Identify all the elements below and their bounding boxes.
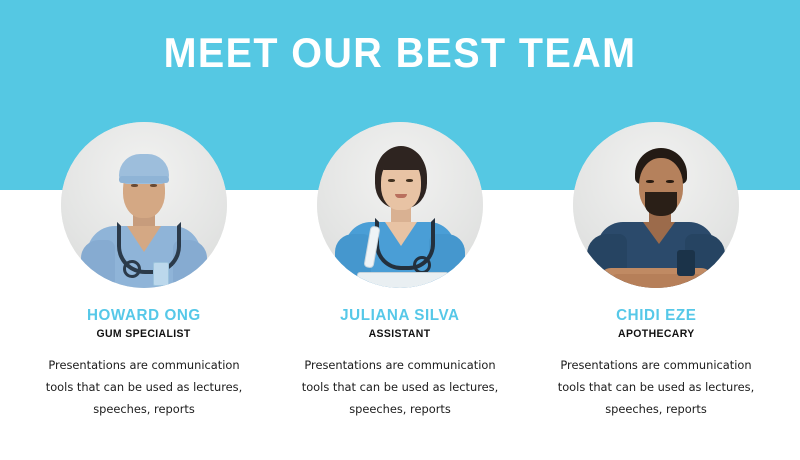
avatar	[573, 122, 739, 288]
surgical-cap-band	[119, 176, 169, 183]
team-member-list: HOWARD ONG GUM SPECIALIST Presentations …	[0, 122, 800, 420]
right-eye	[666, 180, 674, 183]
member-role: GUM SPECIALIST	[97, 328, 191, 341]
team-member-card[interactable]: JULIANA SILVA ASSISTANT Presentations ar…	[278, 122, 522, 420]
right-eye	[406, 179, 413, 182]
member-name: JULIANA SILVA	[340, 307, 459, 325]
page-title: MEET OUR BEST TEAM	[24, 30, 776, 76]
forearm-overlap	[609, 274, 705, 288]
member-bio: Presentations are communication tools th…	[286, 354, 514, 420]
right-eye	[150, 184, 157, 187]
member-role: ASSISTANT	[369, 328, 431, 341]
hair-fringe	[379, 150, 423, 170]
member-name: HOWARD ONG	[87, 307, 201, 325]
clipboard	[357, 272, 449, 288]
avatar	[61, 122, 227, 288]
member-role: APOTHECARY	[618, 328, 695, 341]
chest-pocket	[677, 250, 695, 276]
left-eye	[388, 179, 395, 182]
beard	[645, 192, 677, 216]
avatar	[317, 122, 483, 288]
left-eye	[646, 180, 654, 183]
team-member-card[interactable]: CHIDI EZE APOTHECARY Presentations are c…	[534, 122, 778, 420]
member-bio: Presentations are communication tools th…	[542, 354, 770, 420]
left-arm	[81, 240, 115, 288]
member-bio: Presentations are communication tools th…	[30, 354, 258, 420]
left-eye	[131, 184, 138, 187]
member-name: CHIDI EZE	[616, 307, 696, 325]
team-member-card[interactable]: HOWARD ONG GUM SPECIALIST Presentations …	[22, 122, 266, 420]
team-slide: MEET OUR BEST TEAM	[0, 0, 800, 460]
id-badge	[153, 262, 169, 286]
stethoscope-bell	[123, 260, 141, 278]
